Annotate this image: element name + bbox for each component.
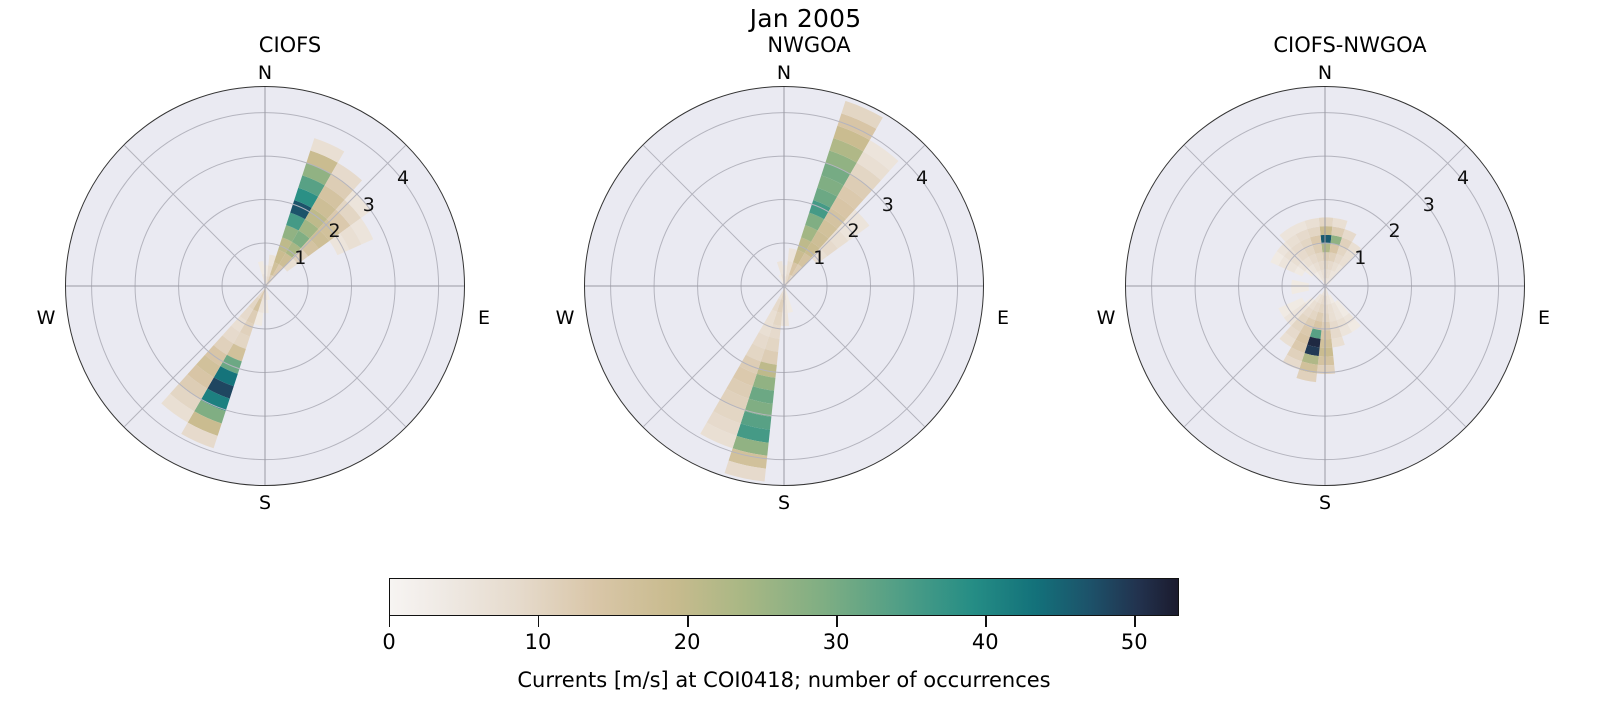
rose-cell xyxy=(777,261,784,275)
polar-disc-0 xyxy=(65,86,465,486)
radial-tick-label-1: 1 xyxy=(813,249,825,268)
colorbar-tick xyxy=(687,616,688,627)
rose-cell xyxy=(1318,356,1334,365)
colorbar-tick xyxy=(538,616,539,627)
radial-tick-label-2: 2 xyxy=(1389,222,1401,241)
rose-cell xyxy=(1321,235,1332,244)
radial-tick-label-4: 4 xyxy=(397,169,409,188)
compass-label-west-2: W xyxy=(1092,307,1120,329)
rose-cell xyxy=(1300,282,1309,287)
colorbar[interactable]: 01020304050 xyxy=(389,578,1179,656)
rose-cell xyxy=(1300,287,1309,292)
compass-label-north-1: N xyxy=(549,62,1019,84)
compass-label-east-1: E xyxy=(989,307,1017,329)
radial-tick-label-4: 4 xyxy=(916,169,928,188)
rose-cell xyxy=(1323,261,1328,270)
colorbar-tick xyxy=(985,616,986,627)
polar-axes-0[interactable]: N S W E 1234 xyxy=(30,78,500,548)
compass-label-south-0: S xyxy=(30,492,500,514)
rose-petals-2 xyxy=(1126,87,1525,486)
colorbar-tick xyxy=(389,616,390,627)
radial-tick-label-1: 1 xyxy=(294,249,306,268)
compass-label-east-2: E xyxy=(1530,307,1558,329)
polar-axes-2[interactable]: N S W E 1234 xyxy=(1090,78,1560,548)
compass-label-west-0: W xyxy=(32,307,60,329)
rose-cell xyxy=(1321,322,1330,331)
rose-cell xyxy=(781,313,789,326)
colorbar-tick-label: 0 xyxy=(382,630,395,654)
rose-cell xyxy=(1319,217,1334,226)
colorbar-tick-label: 20 xyxy=(674,630,701,654)
polar-axes-1[interactable]: N S W E 1234 xyxy=(549,78,1019,548)
figure-canvas: Jan 2005 CIOFS N S W E 1234 NWGOA N S W … xyxy=(0,0,1611,724)
rose-cell xyxy=(1320,226,1333,235)
rose-svg xyxy=(585,87,984,486)
subplot-title-1: NWGOA xyxy=(549,33,1069,57)
rose-cell xyxy=(1321,330,1332,339)
radial-tick-label-4: 4 xyxy=(1457,169,1469,188)
rose-petals-0 xyxy=(66,87,465,486)
compass-label-west-1: W xyxy=(551,307,579,329)
subplot-title-2: CIOFS-NWGOA xyxy=(1090,33,1610,57)
rose-svg xyxy=(66,87,465,486)
radial-tick-label-3: 3 xyxy=(882,196,894,215)
rose-cell xyxy=(1291,280,1300,287)
colorbar-axis-label: Currents [m/s] at COI0418; number of occ… xyxy=(389,668,1179,692)
rose-svg xyxy=(1126,87,1525,486)
polar-disc-2 xyxy=(1125,86,1525,486)
rose-cell xyxy=(1317,365,1335,374)
rose-cell xyxy=(1320,339,1333,348)
subplot-title-0: CIOFS xyxy=(30,33,550,57)
compass-label-north-0: N xyxy=(30,62,500,84)
colorbar-gradient xyxy=(389,578,1179,616)
colorbar-tick-label: 10 xyxy=(525,630,552,654)
radial-tick-label-2: 2 xyxy=(329,222,341,241)
radial-tick-label-3: 3 xyxy=(363,196,375,215)
figure-suptitle: Jan 2005 xyxy=(0,4,1611,33)
rose-cell xyxy=(1321,244,1330,253)
colorbar-tick xyxy=(836,616,837,627)
compass-label-east-0: E xyxy=(470,307,498,329)
rose-cell xyxy=(1322,252,1329,261)
rose-cell xyxy=(258,261,265,275)
colorbar-tick-label: 30 xyxy=(823,630,850,654)
colorbar-ticks xyxy=(389,616,1179,630)
radial-tick-label-3: 3 xyxy=(1423,196,1435,215)
rose-cell xyxy=(1319,348,1334,357)
rose-cell xyxy=(1322,313,1329,322)
colorbar-tick-label: 40 xyxy=(972,630,999,654)
colorbar-tick-labels: 01020304050 xyxy=(389,630,1179,656)
rose-cell xyxy=(1291,287,1300,294)
compass-label-south-1: S xyxy=(549,492,1019,514)
rose-petals-1 xyxy=(585,87,984,486)
polar-disc-1 xyxy=(584,86,984,486)
radial-tick-label-1: 1 xyxy=(1354,249,1366,268)
rose-cell xyxy=(1323,304,1328,313)
radial-tick-label-2: 2 xyxy=(848,222,860,241)
colorbar-tick xyxy=(1134,616,1135,627)
compass-label-south-2: S xyxy=(1090,492,1560,514)
compass-label-north-2: N xyxy=(1090,62,1560,84)
colorbar-tick-label: 50 xyxy=(1121,630,1148,654)
